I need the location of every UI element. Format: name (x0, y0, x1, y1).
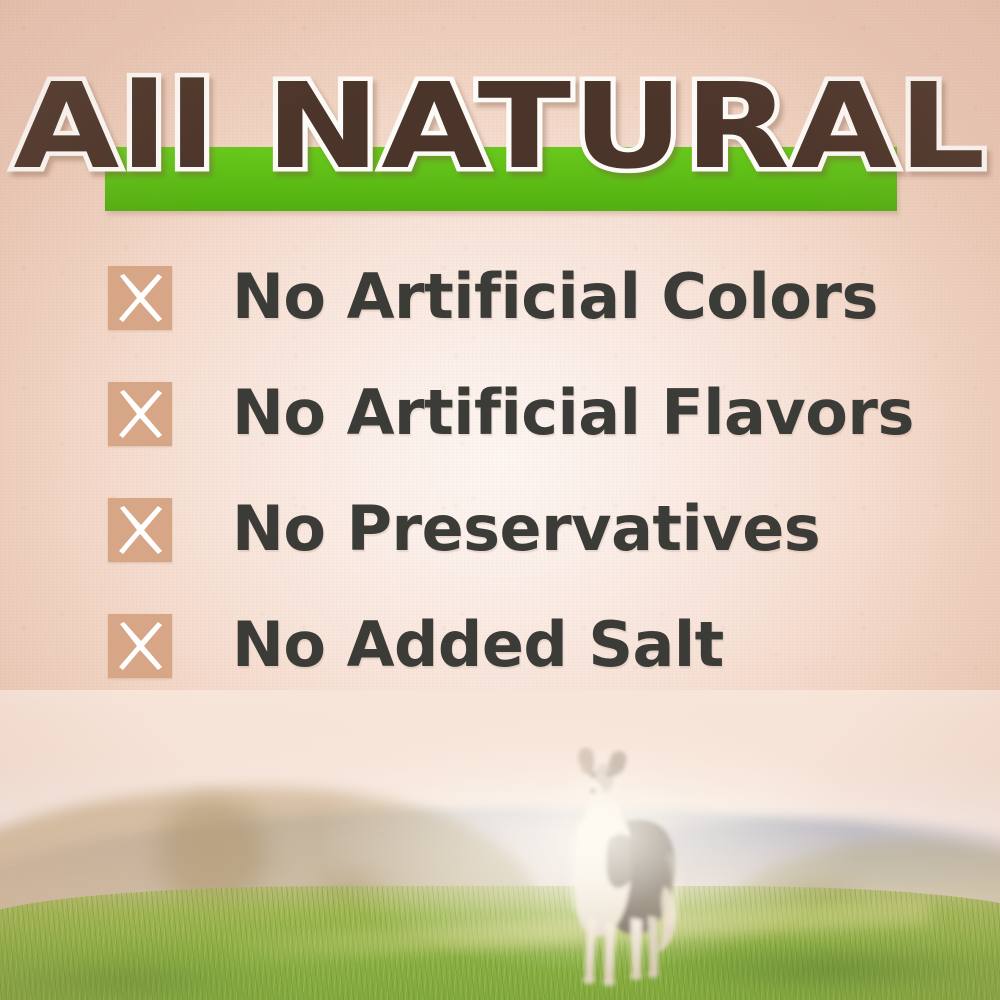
feature-label: No Artificial Colors (232, 258, 928, 336)
feature-item: No Preservatives (108, 490, 928, 606)
headline-banner: All NATURAL (0, 64, 1000, 194)
feature-item: No Artificial Colors (108, 258, 928, 374)
x-mark-icon (108, 498, 172, 562)
feature-list: No Artificial Colors No Artificial Flavo… (108, 258, 928, 722)
landscape-photo (0, 690, 1000, 1000)
all-natural-feature-poster: All NATURAL No Artificial Colors No Arti… (0, 0, 1000, 1000)
headline-title: All NATURAL (0, 64, 1000, 188)
grass-shadow (0, 952, 290, 1000)
x-mark-icon (108, 614, 172, 678)
feature-label: No Added Salt (232, 606, 928, 684)
feature-label: No Artificial Flavors (232, 374, 928, 452)
x-mark-icon (108, 382, 172, 446)
feature-item: No Artificial Flavors (108, 374, 928, 490)
x-mark-icon (108, 266, 172, 330)
border-collie-dog (536, 746, 708, 994)
feature-label: No Preservatives (232, 490, 928, 568)
